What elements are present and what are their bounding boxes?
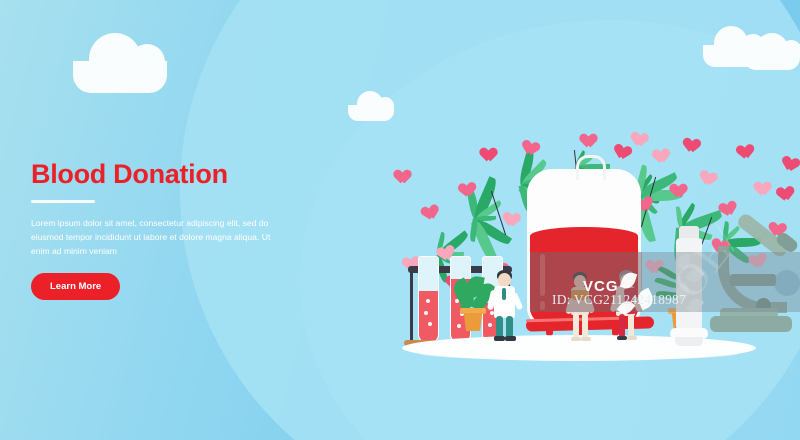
heart-icon bbox=[679, 131, 693, 144]
heart-icon bbox=[415, 201, 427, 212]
person-doctor bbox=[488, 270, 522, 346]
learn-more-button[interactable]: Learn More bbox=[31, 273, 120, 300]
heart-icon bbox=[576, 128, 589, 139]
heart-icon bbox=[611, 137, 625, 150]
heart-icon bbox=[453, 177, 465, 188]
heart-icon bbox=[750, 176, 763, 187]
title-divider bbox=[31, 200, 95, 203]
cloud-icon bbox=[348, 105, 394, 121]
cloud-icon bbox=[73, 61, 167, 93]
heart-icon bbox=[390, 164, 401, 174]
heart-icon bbox=[628, 125, 639, 135]
hero-paragraph: Lorem ipsum dolor sit amet, consectetur … bbox=[31, 217, 271, 259]
illustration-canvas: Blood Donation Lorem ipsum dolor sit ame… bbox=[0, 0, 800, 440]
heart-icon bbox=[697, 163, 709, 174]
heart-icon bbox=[713, 197, 727, 210]
page-title: Blood Donation bbox=[31, 160, 301, 188]
watermark-id-text: ID: VCG211242418987 bbox=[552, 292, 686, 308]
heart-icon bbox=[519, 133, 533, 146]
test-tube bbox=[418, 256, 439, 344]
heart-icon bbox=[772, 181, 783, 191]
heart-icon bbox=[779, 149, 793, 162]
blood-bag-hanger bbox=[576, 155, 606, 180]
heart-icon bbox=[500, 205, 511, 215]
heart-icon bbox=[647, 143, 662, 157]
heart-icon bbox=[731, 139, 743, 150]
hero-text-block: Blood Donation Lorem ipsum dolor sit ame… bbox=[31, 160, 301, 300]
cloud-icon bbox=[703, 45, 765, 67]
heart-icon bbox=[476, 142, 489, 153]
heart-icon bbox=[666, 178, 677, 188]
